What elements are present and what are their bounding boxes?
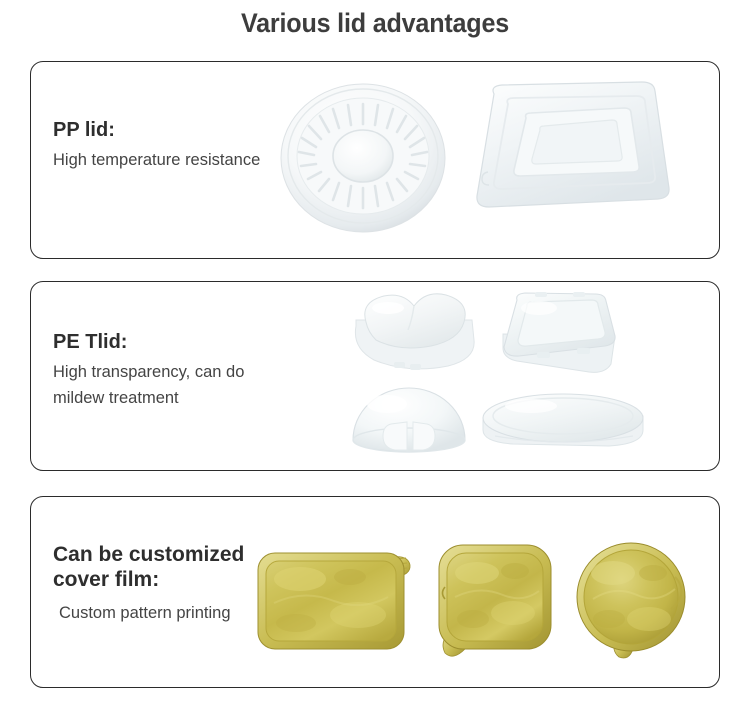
panel-pp-lid-text: PP lid: High temperature resistance	[53, 118, 260, 173]
panel-pe-lid-text: PE Tlid: High transparency, can do milde…	[53, 330, 244, 411]
product-round-ribbed-pp-lid	[279, 74, 459, 239]
page-title: Various lid advantages	[26, 6, 724, 40]
panel-pp-lid-heading: PP lid:	[53, 118, 260, 142]
product-gold-round-foil-lid	[569, 539, 699, 664]
product-round-dome-clear-lid	[347, 382, 472, 460]
product-heart-shaped-clear-lid	[344, 292, 484, 377]
panel-cover-film-text: Can be customized cover film: Custom pat…	[53, 542, 244, 626]
product-oval-flat-clear-lid	[479, 390, 649, 452]
panel-pp-lid: PP lid: High temperature resistance	[30, 61, 720, 259]
product-gold-square-foil-lid	[431, 539, 561, 664]
panel-cover-film-heading: Can be customized cover film:	[53, 542, 244, 592]
panel-pp-lid-description: High temperature resistance	[53, 147, 260, 173]
panel-cover-film: Can be customized cover film: Custom pat…	[30, 496, 720, 688]
product-gold-rectangular-foil-lid	[254, 543, 424, 658]
product-square-dome-clear-lid	[497, 290, 622, 376]
panel-pe-lid-description: High transparency, can do mildew treatme…	[53, 359, 244, 411]
panel-pe-lid: PE Tlid: High transparency, can do milde…	[30, 281, 720, 471]
panel-pp-lid-products	[289, 62, 719, 258]
panel-cover-film-description: Custom pattern printing	[53, 600, 244, 626]
panel-cover-film-products	[259, 497, 719, 687]
product-rectangular-pp-lid	[464, 76, 679, 226]
panel-pe-lid-heading: PE Tlid:	[53, 330, 244, 354]
panel-pe-lid-products	[329, 282, 719, 470]
